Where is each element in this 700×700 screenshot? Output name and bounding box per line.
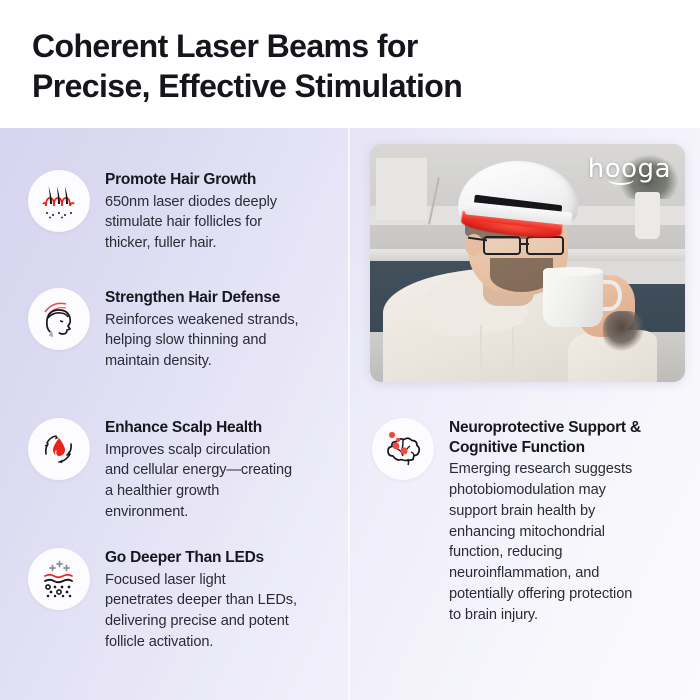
page-title-line-2: Precise, Effective Stimulation <box>32 66 672 106</box>
body-line: follicle activation. <box>105 632 297 653</box>
body-line: Improves scalp circulation <box>105 440 292 461</box>
body-line: environment. <box>105 502 292 523</box>
head-profile-icon <box>28 288 90 350</box>
header: Coherent Laser Beams for Precise, Effect… <box>0 0 700 128</box>
feature-body: Improves scalp circulation and cellular … <box>105 440 292 523</box>
hoodie-drawstring <box>480 325 482 368</box>
kitchen-window <box>376 158 426 220</box>
body-line: and cellular energy—creating <box>105 460 292 481</box>
body-line: Focused laser light <box>105 570 297 591</box>
feature-body: Focused laser light penetrates deeper th… <box>105 570 297 653</box>
body-line: maintain density. <box>105 351 299 372</box>
body-line: a healthier growth <box>105 481 292 502</box>
left-column: Promote Hair Growth 650nm laser diodes d… <box>0 128 348 700</box>
blood-drop-circulation-icon <box>28 418 90 480</box>
body-line: neuroinflammation, and <box>449 563 694 584</box>
feature-title: Neuroprotective Support & Cognitive Func… <box>449 418 694 457</box>
body-line: function, reducing <box>449 542 694 563</box>
body-line: penetrates deeper than LEDs, <box>105 590 297 611</box>
mug-rim <box>543 267 603 277</box>
body-line: support brain health by <box>449 501 694 522</box>
feature-text: Enhance Scalp Health Improves scalp circ… <box>105 418 292 523</box>
title-line: Defense <box>222 289 281 306</box>
body-line: stimulate hair follicles for <box>105 212 277 233</box>
page-title: Coherent Laser Beams for Precise, Effect… <box>32 26 672 107</box>
title-line: Strengthen Hair <box>105 289 218 306</box>
right-column: hooga <box>350 128 700 700</box>
title-line: Neuroprotective <box>449 419 564 436</box>
eyeglasses-left-lens <box>483 236 521 255</box>
infographic-page: Coherent Laser Beams for Precise, Effect… <box>0 0 700 700</box>
eyeglasses-bridge <box>521 243 529 245</box>
feature-text: Strengthen Hair Defense Reinforces weake… <box>105 288 299 372</box>
body-line: delivering precise and potent <box>105 611 297 632</box>
feature-neuroprotective-support: Neuroprotective Support & Cognitive Func… <box>372 418 694 626</box>
feature-text: Neuroprotective Support & Cognitive Func… <box>449 418 694 626</box>
body-line: helping slow thinning and <box>105 330 299 351</box>
hair-follicle-icon <box>28 170 90 232</box>
page-title-line-1: Coherent Laser Beams for <box>32 26 672 66</box>
feature-text: Go Deeper Than LEDs Focused laser light … <box>105 548 297 653</box>
brain-icon <box>372 418 434 480</box>
feature-text: Promote Hair Growth 650nm laser diodes d… <box>105 170 277 254</box>
body-line: to brain injury. <box>449 605 694 626</box>
hoodie-drawstring <box>512 327 514 365</box>
title-line: Function <box>521 439 584 456</box>
feature-body: 650nm laser diodes deeply stimulate hair… <box>105 192 277 255</box>
feature-body: Reinforces weakened strands, helping slo… <box>105 310 299 373</box>
feature-title: Strengthen Hair Defense <box>105 288 299 308</box>
feature-go-deeper-than-leds: Go Deeper Than LEDs Focused laser light … <box>28 548 340 653</box>
feature-title: Enhance Scalp Health <box>105 418 292 438</box>
body-line: 650nm laser diodes deeply <box>105 192 277 213</box>
hooga-logo: hooga <box>588 154 671 184</box>
body-line: enhancing mitochondrial <box>449 522 694 543</box>
body-line: Reinforces weakened strands, <box>105 310 299 331</box>
skin-penetration-depth-icon <box>28 548 90 610</box>
coffee-mug <box>543 268 603 328</box>
feature-strengthen-hair-defense: Strengthen Hair Defense Reinforces weake… <box>28 288 338 372</box>
product-photo: hooga <box>370 144 685 382</box>
feature-title: Go Deeper Than LEDs <box>105 548 297 568</box>
body-line: Emerging research suggests <box>449 459 694 480</box>
kitchen-vase <box>635 192 660 240</box>
feature-enhance-scalp-health: Enhance Scalp Health Improves scalp circ… <box>28 418 340 523</box>
body-line: thicker, fuller hair. <box>105 233 277 254</box>
body-line: photobiomodulation may <box>449 480 694 501</box>
body-line: potentially offering protection <box>449 584 694 605</box>
feature-body: Emerging research suggests photobiomodul… <box>449 459 694 626</box>
feature-promote-hair-growth: Promote Hair Growth 650nm laser diodes d… <box>28 170 338 254</box>
feature-title: Promote Hair Growth <box>105 170 277 190</box>
photo-scene: hooga <box>370 144 685 382</box>
forearm-tattoo <box>603 311 644 351</box>
